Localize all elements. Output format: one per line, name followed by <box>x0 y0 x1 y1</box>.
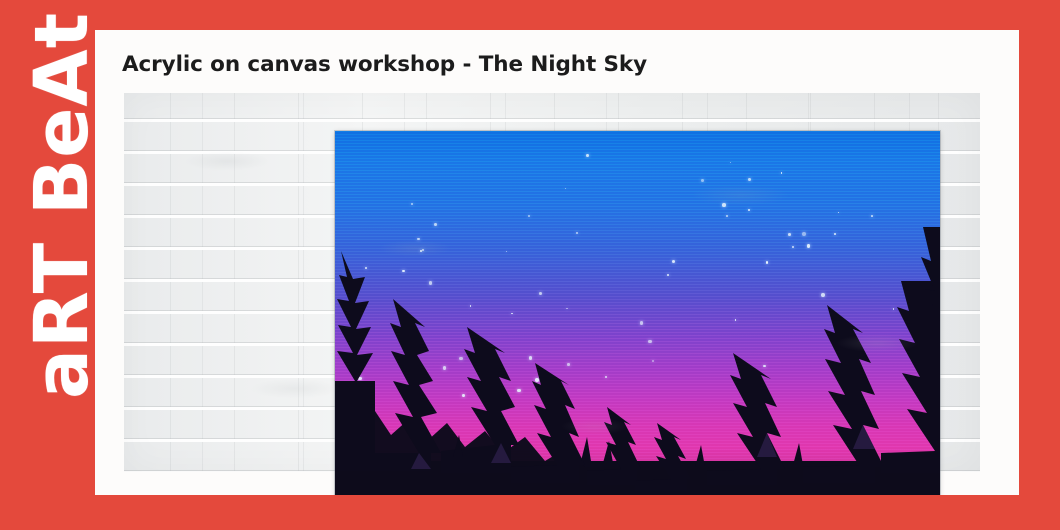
brick-wall-background <box>124 93 980 472</box>
content-card: Acrylic on canvas workshop - The Night S… <box>95 30 1019 495</box>
red-page-frame: aRT BeAt Acrylic on canvas workshop - Th… <box>0 0 1060 530</box>
brand-logo-text: aRT BeAt <box>25 12 99 399</box>
brand-logo[interactable]: aRT BeAt <box>19 39 105 399</box>
tree-line-svg <box>335 131 940 495</box>
page-title: Acrylic on canvas workshop - The Night S… <box>122 52 647 77</box>
night-sky-painting[interactable] <box>335 131 940 495</box>
pine-tree-silhouettes <box>335 131 940 495</box>
